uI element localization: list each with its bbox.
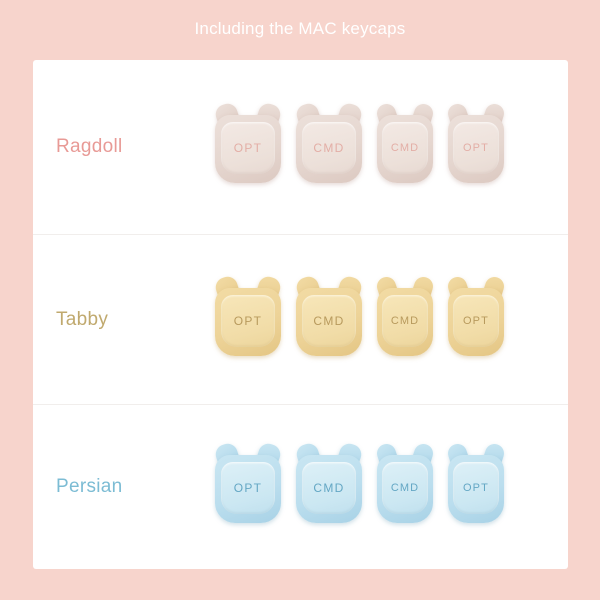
keycap-face: OPT xyxy=(221,462,275,514)
keycap-legend: OPT xyxy=(234,314,263,328)
variant-label-tabby: Tabby xyxy=(56,309,108,331)
keycap-persian-opt-1[interactable]: OPT xyxy=(215,451,281,523)
variant-label-ragdoll: Ragdoll xyxy=(56,136,123,158)
keycap-tabby-opt-2[interactable]: OPT xyxy=(448,284,504,356)
keycap-legend: CMD xyxy=(391,482,419,494)
keycap-legend: OPT xyxy=(463,315,489,327)
variant-row-tabby: Tabby OPT CMD xyxy=(33,234,568,404)
keycap-tabby-opt-1[interactable]: OPT xyxy=(215,284,281,356)
keycap-legend: OPT xyxy=(234,481,263,495)
keycap-persian-opt-2[interactable]: OPT xyxy=(448,451,504,523)
keycap-group-persian: OPT CMD CMD xyxy=(215,451,504,523)
keycap-persian-cmd-1[interactable]: CMD xyxy=(296,451,362,523)
keycap-group-tabby: OPT CMD CMD xyxy=(215,284,504,356)
page-title: Including the MAC keycaps xyxy=(0,18,600,40)
keycap-face: CMD xyxy=(382,122,428,174)
keycap-ragdoll-cmd-1[interactable]: CMD xyxy=(296,111,362,183)
keycap-face: OPT xyxy=(221,295,275,347)
keycap-face: CMD xyxy=(382,295,428,347)
keycap-ragdoll-cmd-2[interactable]: CMD xyxy=(377,111,433,183)
keycap-tabby-cmd-2[interactable]: CMD xyxy=(377,284,433,356)
keycap-ragdoll-opt-1[interactable]: OPT xyxy=(215,111,281,183)
keycap-group-ragdoll: OPT CMD CMD xyxy=(215,111,504,183)
keycap-face: OPT xyxy=(453,295,499,347)
keycap-legend: CMD xyxy=(391,315,419,327)
keycap-persian-cmd-2[interactable]: CMD xyxy=(377,451,433,523)
variant-label-persian: Persian xyxy=(56,476,123,498)
keycap-tabby-cmd-1[interactable]: CMD xyxy=(296,284,362,356)
keycap-legend: CMD xyxy=(391,142,419,154)
keycap-legend: CMD xyxy=(313,314,344,328)
variant-row-persian: Persian OPT CMD xyxy=(33,404,568,568)
keycap-legend: CMD xyxy=(313,481,344,495)
keycap-face: CMD xyxy=(302,122,356,174)
keycap-legend: OPT xyxy=(463,142,489,154)
keycap-variants-card: Ragdoll OPT CMD xyxy=(33,60,568,569)
keycap-legend: CMD xyxy=(313,141,344,155)
keycap-face: CMD xyxy=(382,462,428,514)
product-showcase-page: Including the MAC keycaps Ragdoll OPT xyxy=(0,0,600,600)
keycap-legend: OPT xyxy=(234,141,263,155)
keycap-ragdoll-opt-2[interactable]: OPT xyxy=(448,111,504,183)
keycap-face: OPT xyxy=(221,122,275,174)
keycap-legend: OPT xyxy=(463,482,489,494)
variant-row-ragdoll: Ragdoll OPT CMD xyxy=(33,60,568,234)
keycap-face: OPT xyxy=(453,462,499,514)
keycap-face: OPT xyxy=(453,122,499,174)
keycap-face: CMD xyxy=(302,295,356,347)
keycap-face: CMD xyxy=(302,462,356,514)
